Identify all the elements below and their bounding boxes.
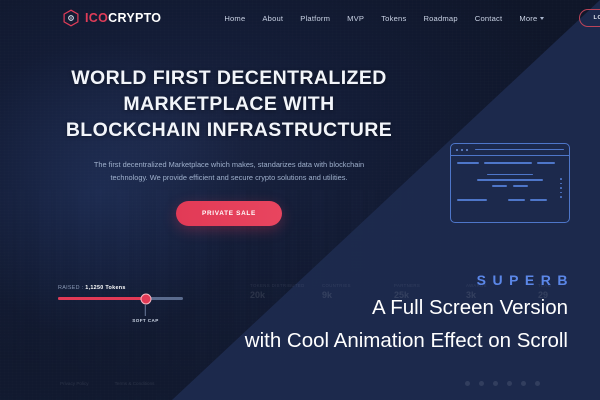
nav-item-about[interactable]: About (262, 14, 283, 23)
content-line (487, 174, 533, 176)
footer-links: Privacy Policy Terms & Conditions (60, 381, 154, 386)
content-row (457, 199, 563, 206)
address-bar-placeholder (475, 149, 564, 150)
nav-item-platform[interactable]: Platform (300, 14, 330, 23)
window-dot-icon (466, 149, 468, 151)
content-line (457, 199, 487, 201)
instagram-icon[interactable] (507, 381, 512, 386)
raised-label: RAISED : (58, 285, 83, 291)
soft-cap-tick-icon (145, 305, 146, 316)
hero-cta-wrapper: PRIVATE SALE (0, 201, 458, 226)
browser-titlebar (451, 144, 569, 156)
hero-subtitle: The first decentralized Marketplace whic… (84, 158, 374, 185)
progress-fill (58, 297, 146, 300)
main-navigation: Home About Platform MVP Tokens Roadmap C… (224, 9, 600, 27)
browser-content (451, 156, 569, 206)
footer-link[interactable]: Privacy Policy (60, 381, 89, 386)
nav-item-roadmap[interactable]: Roadmap (423, 14, 457, 23)
content-bullet-icons (560, 178, 562, 198)
content-line (484, 162, 532, 164)
progress-slider[interactable]: SOFT CAP (58, 297, 183, 300)
promo-line-1: A Full Screen Version (245, 294, 568, 321)
nav-item-more[interactable]: More (519, 14, 544, 23)
window-dot-icon (456, 149, 458, 151)
hero-section: WORLD FIRST DECENTRALIZED MARKETPLACE WI… (0, 66, 458, 226)
footer-link[interactable]: Terms & Conditions (115, 381, 155, 386)
content-button (492, 185, 507, 187)
promo-kicker: SUPERB (245, 272, 574, 288)
content-line (457, 162, 479, 164)
telegram-icon[interactable] (493, 381, 498, 386)
content-line (537, 162, 555, 164)
twitter-icon[interactable] (479, 381, 484, 386)
browser-window-wireframe (450, 143, 570, 223)
site-header: ICOCRYPTO Home About Platform MVP Tokens… (0, 0, 600, 36)
private-sale-button[interactable]: PRIVATE SALE (176, 201, 282, 226)
footer-social-icons (465, 381, 540, 386)
login-button[interactable]: LOGIN (579, 9, 600, 27)
nav-item-more-label: More (519, 14, 537, 23)
promo-overlay: SUPERB A Full Screen Version with Cool A… (245, 272, 568, 355)
soft-cap-label: SOFT CAP (132, 318, 158, 323)
hero-title: WORLD FIRST DECENTRALIZED MARKETPLACE WI… (64, 66, 394, 144)
nav-item-mvp[interactable]: MVP (347, 14, 364, 23)
raised-progress-widget: RAISED : 1,1250 Tokens SOFT CAP (58, 285, 183, 300)
raised-value: 1,1250 Tokens (85, 285, 125, 291)
window-dot-icon (461, 149, 463, 151)
content-line (530, 199, 547, 201)
facebook-icon[interactable] (465, 381, 470, 386)
background-footer: Privacy Policy Terms & Conditions (60, 381, 540, 386)
content-row (457, 162, 563, 169)
nav-item-home[interactable]: Home (224, 14, 245, 23)
hexagon-logo-icon (62, 9, 80, 27)
content-button (513, 185, 528, 187)
youtube-icon[interactable] (535, 381, 540, 386)
content-centered-block (457, 174, 563, 188)
brand-name-secondary: CRYPTO (108, 11, 161, 25)
brand-name-primary: ICO (85, 11, 108, 25)
promo-line-2: with Cool Animation Effect on Scroll (245, 327, 568, 354)
nav-item-contact[interactable]: Contact (475, 14, 503, 23)
raised-label-row: RAISED : 1,1250 Tokens (58, 285, 183, 291)
brand-name: ICOCRYPTO (85, 11, 161, 25)
progress-handle[interactable] (140, 293, 151, 304)
soft-cap-marker: SOFT CAP (132, 305, 158, 323)
nav-item-tokens[interactable]: Tokens (381, 14, 406, 23)
content-line (508, 199, 525, 201)
hero-screenshot: TOKENS DISTRIBUTED 20k COUNTRIES 9k PART… (0, 0, 600, 400)
linkedin-icon[interactable] (521, 381, 526, 386)
chevron-down-icon (540, 17, 544, 20)
brand-logo[interactable]: ICOCRYPTO (62, 9, 161, 27)
content-line (477, 179, 543, 181)
